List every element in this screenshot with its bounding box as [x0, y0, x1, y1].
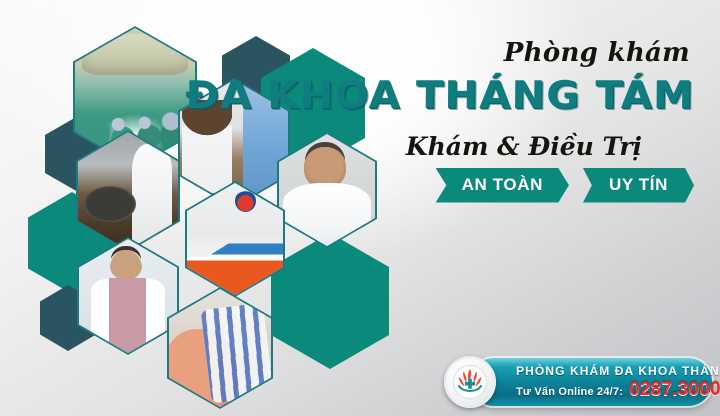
- hex-solid-teal-bottom-right: [271, 233, 389, 369]
- hotline-pill[interactable]: PHÒNG KHÁM ĐA KHOA THÁNG TÁM Tư Vấn Onli…: [470, 358, 712, 406]
- hotline-bar[interactable]: PHÒNG KHÁM ĐA KHOA THÁNG TÁM Tư Vấn Onli…: [442, 356, 712, 408]
- clinic-promo-banner: Phòng khám ĐA KHOA THÁNG TÁM Khám & Điều…: [0, 0, 720, 416]
- hex-photo-reception-image: [187, 183, 283, 295]
- hex-photo-meds-image: [169, 289, 271, 407]
- hotline-phone-number[interactable]: 0287.3000.666: [629, 379, 720, 401]
- banner-badge-2[interactable]: UY TÍN: [583, 168, 694, 203]
- hex-photo-reception: [185, 181, 285, 297]
- banner-pre-title: Phòng khám: [504, 38, 690, 68]
- banner-badge-1[interactable]: AN TOÀN: [436, 168, 569, 203]
- hotline-number-row: Tư Vấn Online 24/7: 0287.3000.666: [516, 379, 702, 401]
- hex-photo-meds-fill: [169, 289, 271, 407]
- hotline-clinic-name: PHÒNG KHÁM ĐA KHOA THÁNG TÁM: [516, 364, 702, 379]
- hotline-consult-label: Tư Vấn Online 24/7:: [516, 386, 623, 398]
- hex-photo-reception-fill: [187, 183, 283, 295]
- lotus-medical-cross-icon: [444, 356, 496, 408]
- banner-main-title: ĐA KHOA THÁNG TÁM: [185, 76, 694, 114]
- banner-sub-title: Khám & Điều Trị: [406, 132, 642, 161]
- hex-photo-meds: [167, 287, 273, 409]
- banner-badge-group: AN TOÀNUY TÍN: [436, 168, 694, 203]
